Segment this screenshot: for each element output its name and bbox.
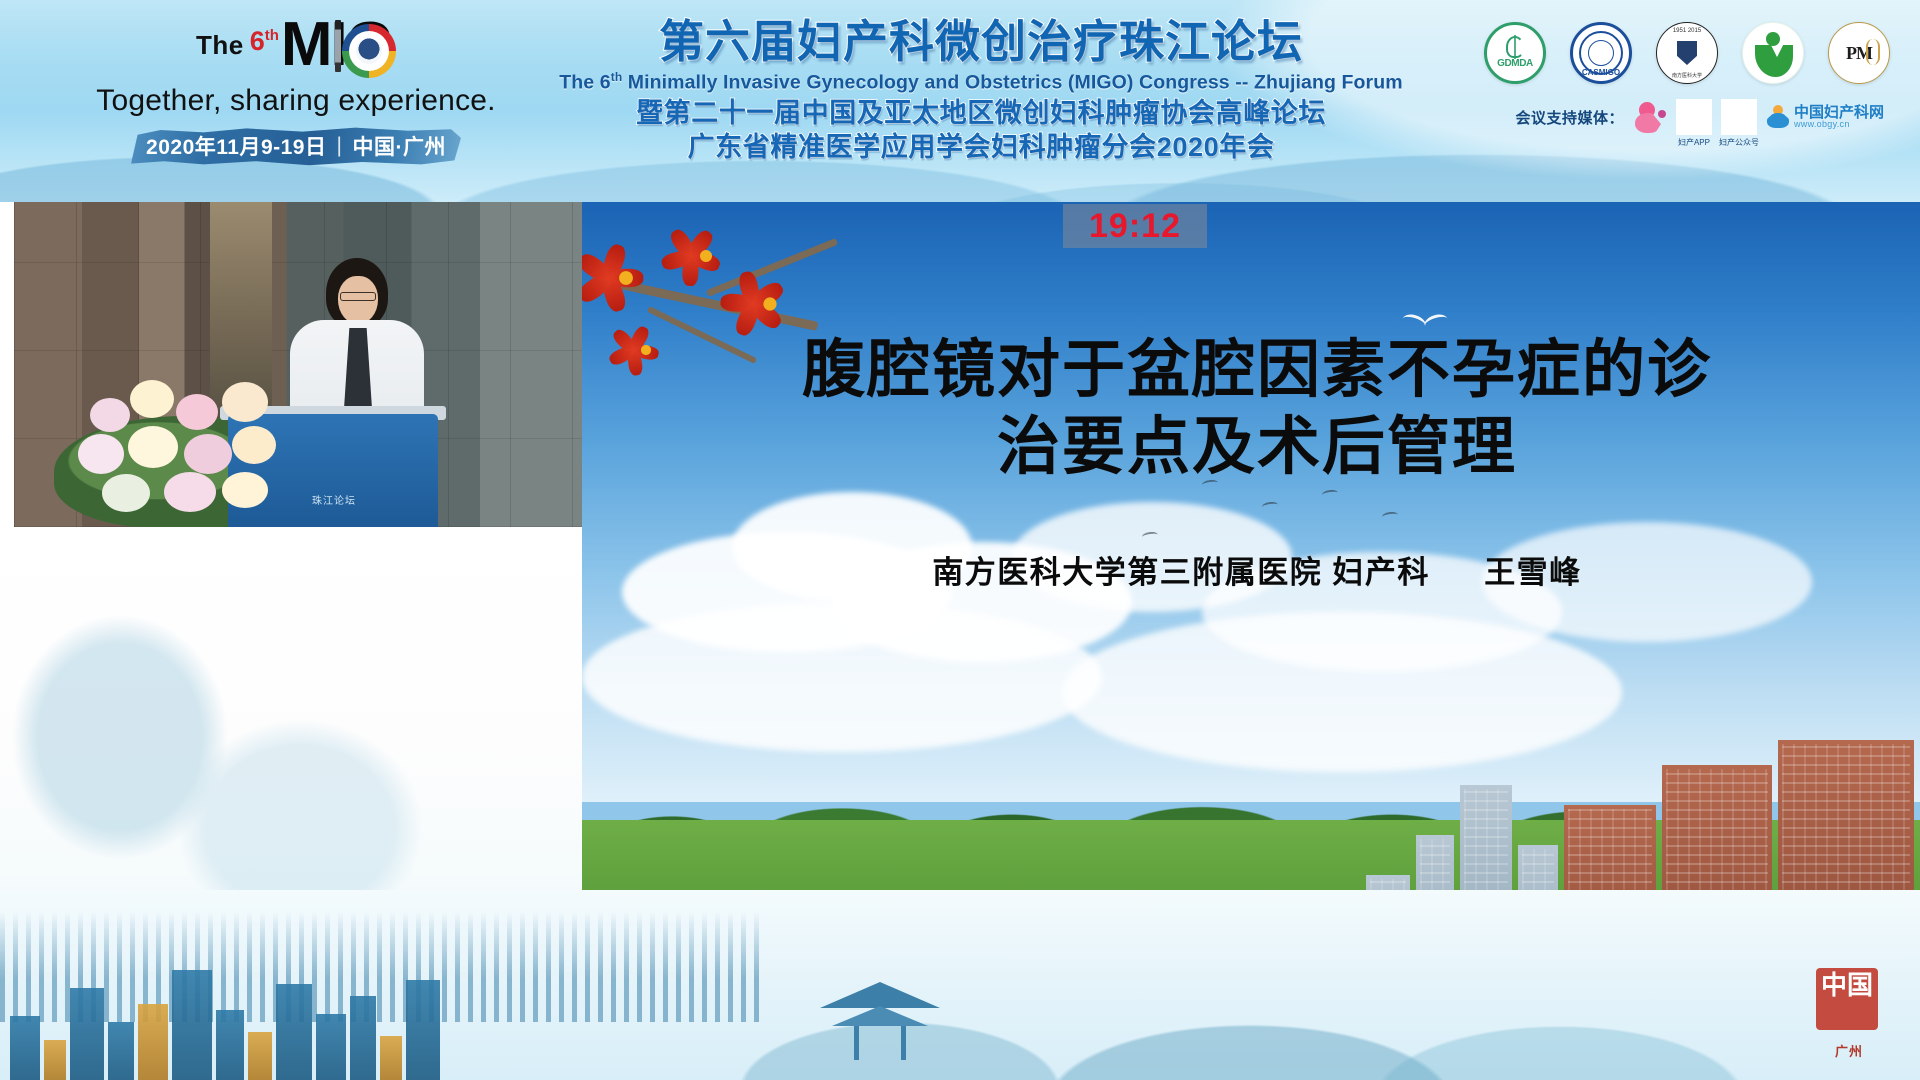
gdmda-abbr: GDMDA [1487, 58, 1543, 69]
migo-wordmark: The 6th MIG [96, 16, 496, 82]
globe-icon [1588, 40, 1614, 66]
congress-date: 2020年11月9-19日 [146, 131, 326, 161]
livestream-page: The 6th MIG Together, sharing experience… [0, 0, 1920, 1080]
media-support-row: 会议支持媒体： 妇产APP 妇产公众号 中国妇产科网 www.obgy.cn [1515, 99, 1884, 135]
congress-title-cn: 第六届妇产科微创治疗珠江论坛 [556, 18, 1406, 67]
shield-icon [1677, 41, 1697, 65]
figure-head-icon [1766, 32, 1780, 46]
migo-ring-icon [342, 24, 396, 78]
qr-code-app[interactable]: 妇产APP [1676, 99, 1712, 135]
mother-child-logo [1633, 100, 1667, 134]
seal-cn-text: 中国 [1816, 972, 1878, 999]
presentation-timer: 19:12 [1063, 204, 1207, 248]
figure-body-icon [1755, 45, 1793, 77]
congress-subtitle-1: 暨第二十一届中国及亚太地区微创妇科肿瘤协会高峰论坛 [556, 97, 1406, 131]
bottom-city-illustration [0, 930, 560, 1080]
congress-header-banner: The 6th MIG Together, sharing experience… [0, 0, 1920, 202]
precision-medicine-logo: PM [1828, 22, 1890, 84]
casmigo-abbr: CASMIGO [1573, 68, 1629, 77]
migo-ordinal: 6th [250, 28, 279, 55]
seal-city-text: 广州 [1810, 1041, 1888, 1060]
casmigo-logo: CASMIGO [1570, 22, 1632, 84]
obgy-url: www.obgy.cn [1794, 120, 1884, 130]
green-figure-logo [1742, 22, 1804, 84]
crest-top-text: 1951 2015 [1657, 28, 1717, 34]
qr-wechat-caption: 妇产公众号 [1719, 137, 1759, 148]
date-location-banner: 2020年11月9-19日 | 中国·广州 [131, 126, 461, 166]
congress-location: 中国·广州 [352, 131, 446, 161]
slide-presenter-line: 南方医科大学第三附属医院 妇产科 王雪峰 [642, 547, 1872, 592]
qr-code-wechat[interactable]: 妇产公众号 [1721, 99, 1757, 135]
migo-tagline: Together, sharing experience. [96, 84, 496, 118]
slide-title-line-1: 腹腔镜对于盆腔因素不孕症的诊 [802, 335, 1712, 405]
seagull-icon [1402, 307, 1448, 327]
migo-logo-block: The 6th MIG Together, sharing experience… [96, 16, 496, 166]
bottom-decor-band: 中国 广州 [0, 890, 1920, 1080]
congress-subtitle-2: 广东省精准医学应用学会妇科肿瘤分会2020年会 [556, 131, 1406, 165]
slide-title-line-2: 治要点及术后管理 [642, 409, 1872, 486]
flower-arrangement [72, 372, 302, 527]
congress-title-en: The 6th Minimally Invasive Gynecology an… [556, 70, 1406, 95]
congress-title-block: 第六届妇产科微创治疗珠江论坛 The 6th Minimally Invasiv… [556, 18, 1406, 165]
gdmda-logo: GDMDA [1484, 22, 1546, 84]
organization-logo-row: GDMDA CASMIGO 1951 2015 南方医科大学 PM [1484, 22, 1890, 84]
migo-the-label: The [196, 32, 244, 58]
obgy-site-logo[interactable]: 中国妇产科网 www.obgy.cn [1766, 105, 1884, 130]
needle-icon [335, 20, 341, 72]
pavilion-illustration [820, 982, 940, 1062]
china-guangzhou-seal: 中国 广州 [1810, 968, 1888, 1060]
obgy-figure-icon [1766, 105, 1790, 129]
qr-app-caption: 妇产APP [1678, 137, 1710, 148]
university-crest-logo: 1951 2015 南方医科大学 [1656, 22, 1718, 84]
media-support-label: 会议支持媒体： [1515, 107, 1624, 128]
slide-title: 腹腔镜对于盆腔因素不孕症的诊 治要点及术后管理 [642, 332, 1872, 486]
glasses-icon [340, 292, 376, 301]
dna-helix-icon [1866, 39, 1880, 65]
date-separator: | [336, 134, 342, 158]
crest-bottom-text: 南方医科大学 [1657, 72, 1717, 79]
obgy-name: 中国妇产科网 [1794, 105, 1884, 120]
speaker-camera-feed[interactable]: 珠江论坛 [14, 202, 582, 527]
presenter-name: 王雪峰 [1484, 555, 1582, 590]
presenter-affiliation: 南方医科大学第三附属医院 妇产科 [932, 555, 1430, 590]
